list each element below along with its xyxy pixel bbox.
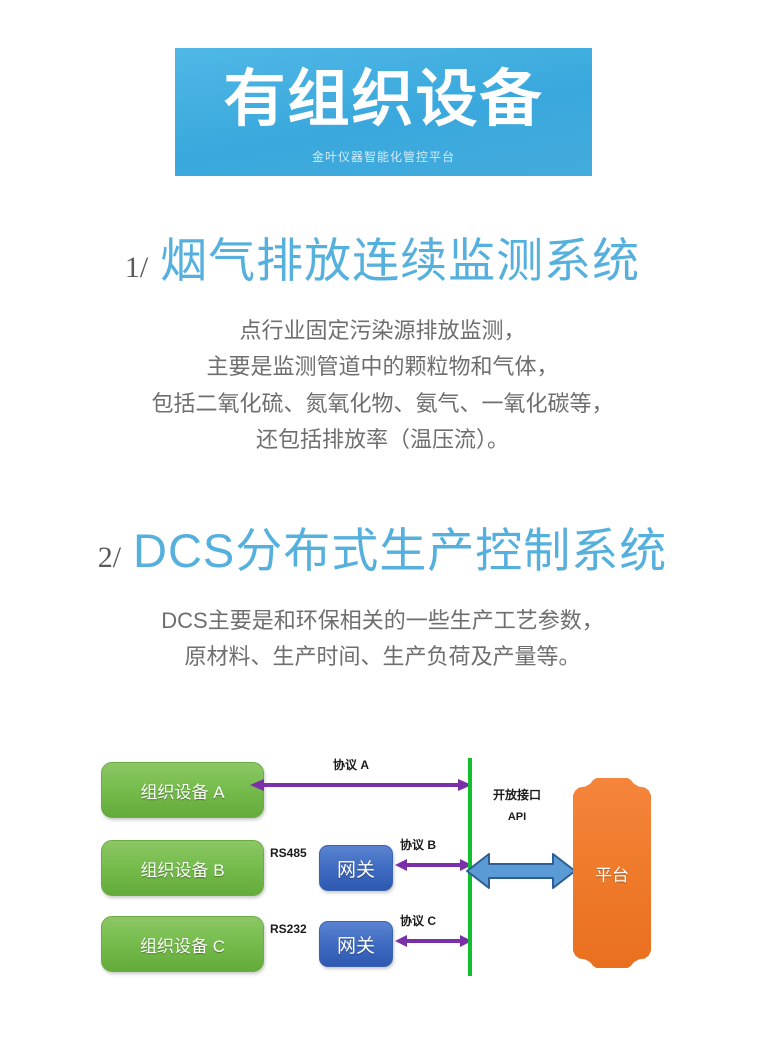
section-1-number: 1/: [125, 251, 148, 285]
section-1-line-2: 主要是监测管道中的颗粒物和气体，: [0, 349, 765, 385]
section-1-heading: 1/ 烟气排放连续监测系统: [0, 222, 765, 291]
section-1-line-3: 包括二氧化硫、氮氧化物、氨气、一氧化碳等，: [0, 386, 765, 422]
protocol-arrow-a-icon: [250, 778, 472, 792]
section-1-line-4: 还包括排放率（温压流）。: [0, 422, 765, 458]
section-2-number: 2/: [98, 541, 121, 575]
section-2-heading: 2/ DCS分布式生产控制系统: [0, 512, 765, 581]
page-title: 有组织设备: [223, 58, 543, 142]
protocol-arrow-c-icon: [395, 934, 472, 948]
section-2-line-1: DCS主要是和环保相关的一些生产工艺参数，: [0, 603, 765, 639]
gateway-node-1: 网关: [319, 845, 393, 891]
section-1-title: 烟气排放连续监测系统: [160, 222, 640, 291]
section-2-title: DCS分布式生产控制系统: [133, 512, 667, 581]
section-2-line-2: 原材料、生产时间、生产负荷及产量等。: [0, 639, 765, 675]
device-node-a: 组织设备 A: [101, 762, 264, 818]
device-node-b: 组织设备 B: [101, 840, 264, 896]
open-interface-sub: API: [477, 807, 557, 828]
platform-node: 平台: [573, 778, 651, 968]
gateway-node-2: 网关: [319, 921, 393, 967]
section-2-paragraph: DCS主要是和环保相关的一些生产工艺参数， 原材料、生产时间、生产负荷及产量等。: [0, 603, 765, 676]
bus-label-rs232: RS232: [270, 922, 307, 936]
section-1-paragraph: 点行业固定污染源排放监测， 主要是监测管道中的颗粒物和气体， 包括二氧化硫、氮氧…: [0, 313, 765, 458]
header-banner: 有组织设备 金叶仪器智能化管控平台: [175, 48, 592, 176]
protocol-label-c: 协议 C: [400, 912, 436, 929]
protocol-label-b: 协议 B: [400, 836, 436, 853]
bus-label-rs485: RS485: [270, 846, 307, 860]
section-dcs: 2/ DCS分布式生产控制系统 DCS主要是和环保相关的一些生产工艺参数， 原材…: [0, 512, 765, 676]
section-1-line-1: 点行业固定污染源排放监测，: [0, 313, 765, 349]
device-node-c: 组织设备 C: [101, 916, 264, 972]
section-emission-monitoring: 1/ 烟气排放连续监测系统 点行业固定污染源排放监测， 主要是监测管道中的颗粒物…: [0, 222, 765, 458]
open-interface-title: 开放接口: [477, 784, 557, 807]
protocol-arrow-b-icon: [395, 858, 472, 872]
api-link-arrow-icon: [465, 850, 577, 892]
platform-label: 平台: [595, 861, 629, 886]
protocol-label-a: 协议 A: [333, 756, 369, 773]
architecture-diagram: 组织设备 A 组织设备 B 组织设备 C RS485 RS232 网关 网关 协…: [95, 750, 680, 990]
open-interface-label: 开放接口 API: [477, 784, 557, 828]
page-subtitle: 金叶仪器智能化管控平台: [312, 148, 455, 165]
